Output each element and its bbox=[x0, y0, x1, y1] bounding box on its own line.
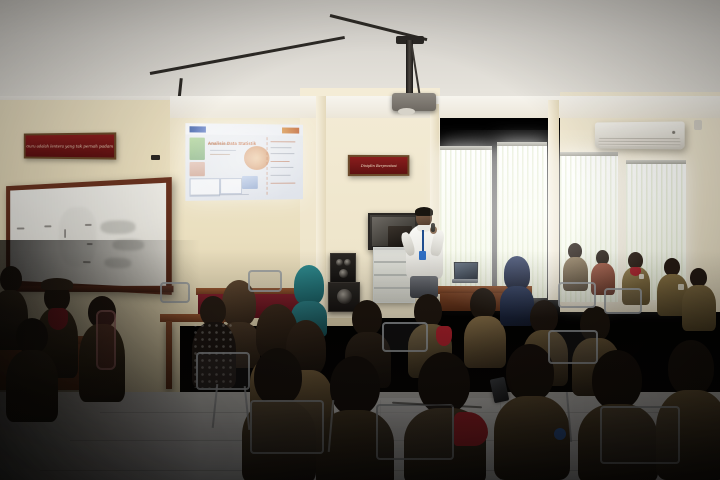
uniform-badge bbox=[678, 284, 684, 290]
whiteboard-smudge-2 bbox=[113, 239, 144, 251]
head bbox=[592, 350, 642, 410]
slide-image-2 bbox=[190, 162, 205, 176]
ac-pipe-cover bbox=[694, 120, 702, 130]
whiteboard-smudge-3 bbox=[104, 257, 131, 268]
chair-8[interactable] bbox=[250, 400, 324, 454]
pilaster-c bbox=[548, 100, 559, 300]
institution-logo-icon bbox=[190, 126, 206, 132]
head bbox=[16, 318, 48, 354]
head bbox=[668, 340, 714, 396]
presenter bbox=[402, 208, 448, 296]
window-rail-1 bbox=[440, 146, 492, 150]
hijab bbox=[504, 256, 530, 290]
window-rail-2 bbox=[497, 142, 547, 146]
window-rail-4 bbox=[626, 160, 686, 164]
uniform-badge bbox=[639, 274, 644, 279]
wall-banner-left: Guru adalah lentera yang tak pernah pada… bbox=[24, 132, 116, 159]
speaker-mid bbox=[339, 269, 348, 278]
head bbox=[0, 266, 22, 292]
whiteboard-smudge-4 bbox=[59, 207, 97, 268]
projector-lens bbox=[398, 108, 415, 115]
slide-bullet-2 bbox=[270, 147, 291, 148]
banner-right-text: Disiplin Berprestasi bbox=[350, 163, 408, 167]
torso bbox=[6, 350, 58, 422]
whiteboard-mark-1 bbox=[17, 228, 25, 230]
chair-3[interactable] bbox=[558, 282, 596, 308]
chair-foreground-left[interactable] bbox=[96, 310, 116, 370]
microphone bbox=[431, 223, 435, 232]
torso bbox=[500, 286, 534, 326]
presenter-laptop bbox=[452, 262, 478, 287]
sponsor-logo-icon bbox=[282, 127, 299, 133]
hijab bbox=[294, 265, 324, 305]
laptop-base bbox=[452, 279, 478, 283]
presenter-glasses bbox=[417, 215, 431, 219]
ac-indicator-light bbox=[672, 131, 675, 134]
slide-bullet-7 bbox=[270, 183, 295, 184]
projector-body bbox=[392, 93, 436, 111]
uniform-badge bbox=[554, 428, 566, 440]
presenter-collar bbox=[417, 225, 431, 232]
head bbox=[530, 300, 558, 334]
slide-image-1 bbox=[190, 137, 205, 159]
wall-upper-band bbox=[170, 96, 720, 118]
whiteboard-surface bbox=[10, 183, 166, 288]
head bbox=[254, 348, 302, 406]
chair-2[interactable] bbox=[160, 282, 190, 303]
slide-bullet-1 bbox=[270, 141, 295, 142]
chair-7[interactable] bbox=[548, 330, 598, 364]
slide-title: Analisis Data Statistik bbox=[208, 141, 256, 146]
slide-textline-2 bbox=[210, 154, 230, 155]
wall-banner-right: Disiplin Berprestasi bbox=[348, 155, 410, 176]
neckerchief bbox=[436, 326, 452, 346]
mid-table-leg-l bbox=[166, 321, 172, 389]
whiteboard-mark-2 bbox=[44, 225, 51, 227]
chair-9[interactable] bbox=[376, 404, 454, 460]
torso bbox=[682, 285, 716, 331]
slide-bullet-4 bbox=[270, 161, 289, 162]
speaker-tweeter bbox=[336, 259, 343, 266]
whiteboard-smudge-1 bbox=[101, 220, 136, 234]
slide-table-2 bbox=[220, 178, 242, 194]
projection-screen: Seminar Nasional Analisis Data Statistik bbox=[185, 123, 303, 201]
scout-beret bbox=[41, 278, 73, 290]
slide-textline-1 bbox=[210, 150, 236, 151]
chair-5[interactable] bbox=[382, 322, 428, 352]
banner-left-text: Guru adalah lentera yang tak pernah pada… bbox=[26, 143, 115, 148]
presenter-lanyard bbox=[422, 230, 424, 252]
neckerchief bbox=[48, 308, 68, 330]
whiteboard-marker-tray bbox=[12, 286, 174, 293]
presenter-id-badge bbox=[419, 251, 426, 260]
slide-bullet-6 bbox=[270, 175, 290, 176]
slide-bullet-3 bbox=[270, 153, 294, 154]
head bbox=[506, 344, 554, 402]
air-conditioner bbox=[595, 121, 685, 149]
presentation-slide: Seminar Nasional Analisis Data Statistik bbox=[185, 123, 303, 201]
wall-bracket bbox=[151, 155, 160, 160]
chair-6[interactable] bbox=[196, 352, 250, 390]
slide-right-column bbox=[267, 137, 301, 195]
chair-10[interactable] bbox=[600, 406, 680, 464]
head bbox=[352, 300, 382, 336]
ac-vent bbox=[599, 138, 681, 146]
head bbox=[330, 356, 380, 416]
speaker-woofer bbox=[344, 259, 351, 266]
window-rail-3 bbox=[560, 152, 618, 156]
left-speaker bbox=[330, 253, 356, 284]
laptop-screen bbox=[454, 262, 478, 281]
torso bbox=[464, 316, 506, 368]
slide-bullet-5 bbox=[270, 167, 293, 168]
classroom-presentation-photo: Seminar Nasional Analisis Data Statistik bbox=[0, 0, 720, 480]
slide-chart-1 bbox=[242, 176, 258, 189]
chair-4[interactable] bbox=[604, 288, 642, 314]
whiteboard bbox=[6, 177, 172, 295]
subwoofer-cone bbox=[337, 289, 352, 304]
chair-1[interactable] bbox=[248, 270, 282, 292]
